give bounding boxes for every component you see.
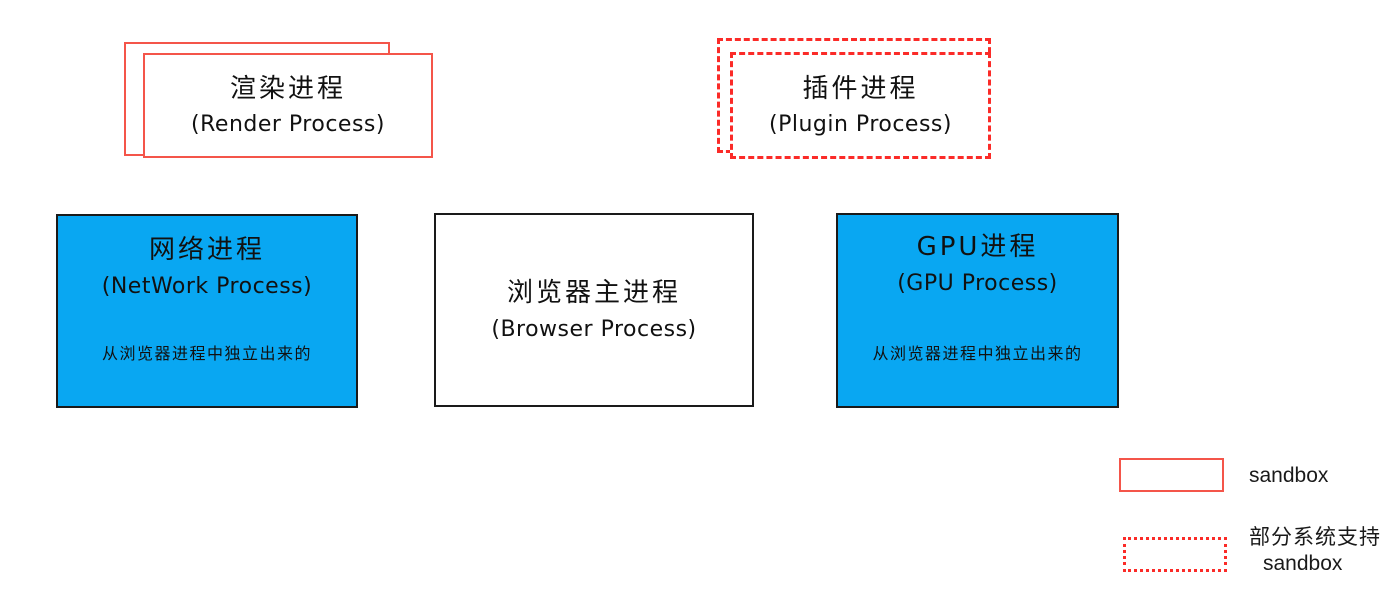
plugin-process-box[interactable]: 插件进程 (Plugin Process) (730, 52, 991, 159)
gpu-process-title-en: (GPU Process) (897, 270, 1058, 298)
network-process-note: 从浏览器进程中独立出来的 (58, 344, 356, 364)
plugin-process-title-cn: 插件进程 (802, 73, 918, 106)
browser-process-title-cn: 浏览器主进程 (507, 277, 681, 310)
network-process-box[interactable]: 网络进程 (NetWork Process) 从浏览器进程中独立出来的 (56, 214, 358, 408)
network-process-title-cn: 网络进程 (149, 234, 265, 267)
gpu-process-note: 从浏览器进程中独立出来的 (838, 344, 1117, 364)
gpu-process-box[interactable]: GPU进程 (GPU Process) 从浏览器进程中独立出来的 (836, 213, 1119, 408)
gpu-process-title-cn: GPU进程 (917, 231, 1039, 264)
legend-label-sandbox: sandbox (1249, 464, 1328, 488)
legend-label-partial-sandbox-line2: sandbox (1263, 552, 1342, 576)
render-process-title-en: (Render Process) (191, 111, 385, 139)
legend-swatch-dotted-red (1123, 537, 1227, 572)
network-process-title-en: (NetWork Process) (102, 273, 312, 301)
browser-process-box[interactable]: 浏览器主进程 (Browser Process) (434, 213, 754, 407)
diagram-canvas: 渲染进程 (Render Process) 插件进程 (Plugin Proce… (0, 0, 1400, 595)
browser-process-title-en: (Browser Process) (491, 316, 696, 344)
plugin-process-title-en: (Plugin Process) (769, 111, 952, 139)
render-process-box[interactable]: 渲染进程 (Render Process) (143, 53, 433, 158)
legend-label-partial-sandbox-line1: 部分系统支持 (1249, 521, 1381, 551)
render-process-title-cn: 渲染进程 (230, 73, 346, 106)
legend-swatch-solid-red (1119, 458, 1224, 492)
